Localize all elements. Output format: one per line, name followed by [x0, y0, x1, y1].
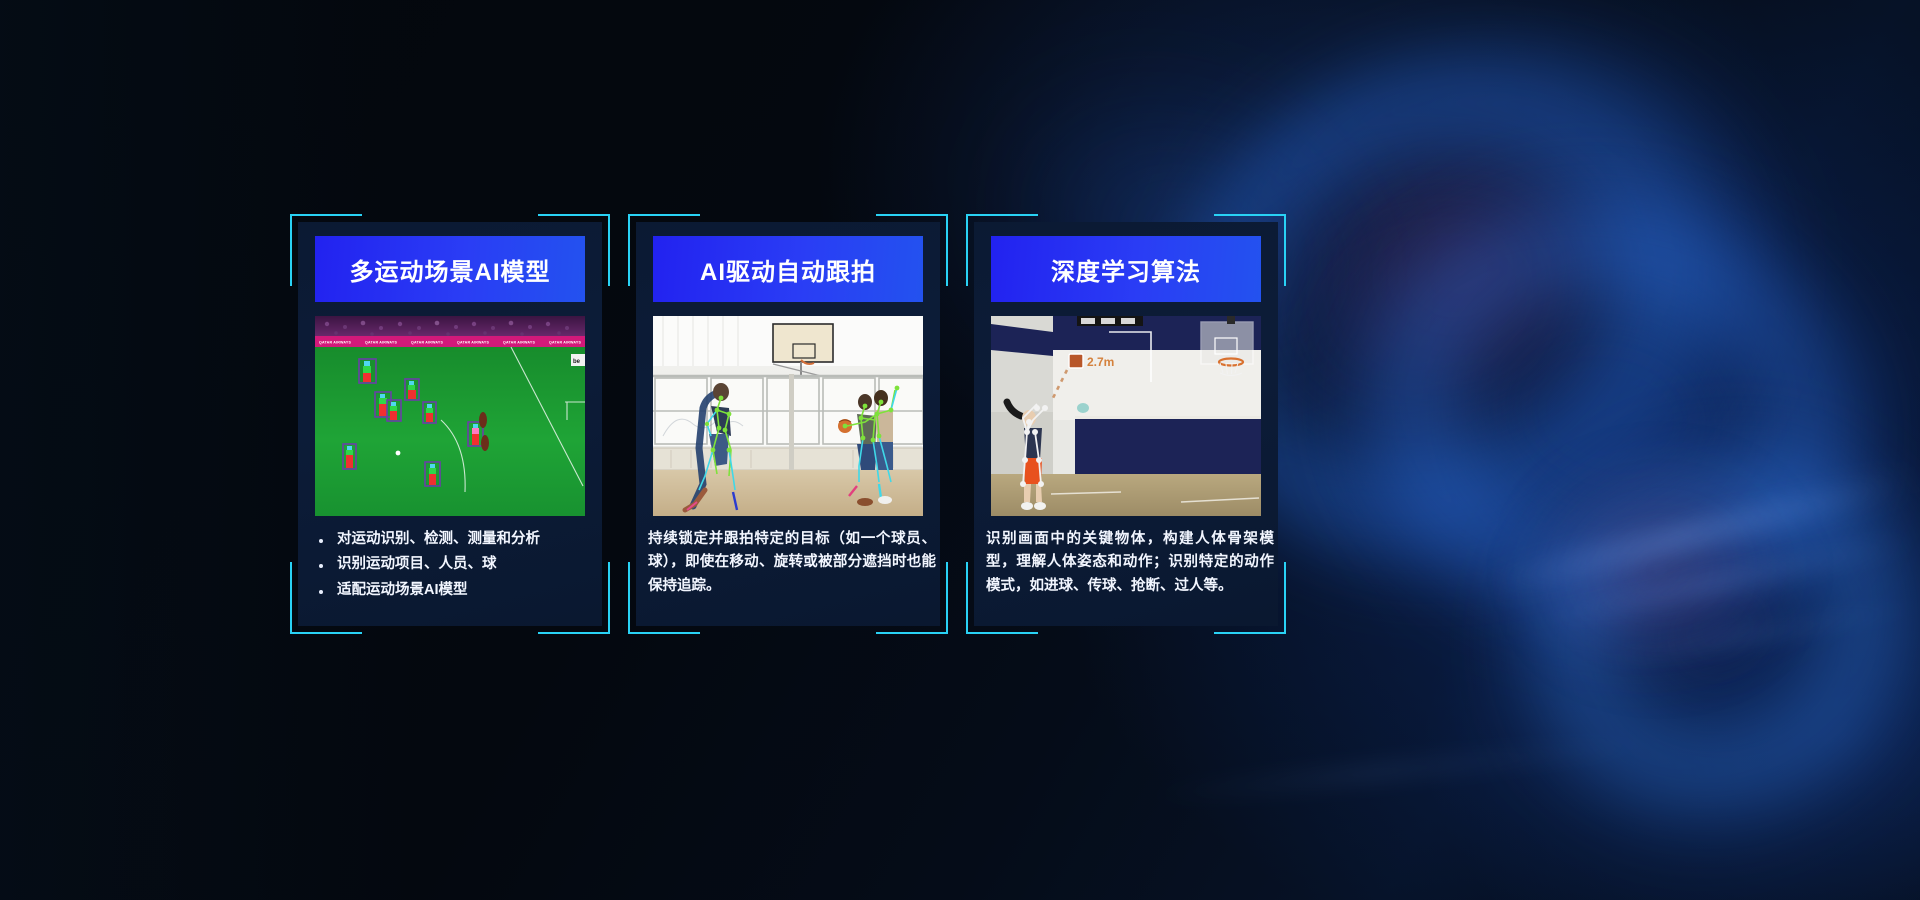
background-light-streak: [1542, 533, 1917, 628]
card-media-basketball-pose: [653, 316, 923, 516]
background-light-streak: [1601, 600, 1918, 667]
card-body: 识别画面中的关键物体，构建人体骨架模型，理解人体姿态和动作；识别特定的动作模式，…: [986, 528, 1274, 598]
background-light-streak: [1140, 733, 1659, 807]
background-swirl-mid: [1287, 127, 1920, 703]
svg-text:QATAR AIRWAYS: QATAR AIRWAYS: [319, 341, 351, 345]
page-background: 多运动场景AI模型: [0, 0, 1920, 900]
card-description: 识别画面中的关键物体，构建人体骨架模型，理解人体姿态和动作；识别特定的动作模式，…: [986, 528, 1274, 598]
card-title: 深度学习算法: [1051, 252, 1201, 287]
card-title: AI驱动自动跟拍: [700, 252, 876, 287]
card-description: 持续锁定并跟拍特定的目标（如一个球员、球），即使在移动、旋转或被部分遮挡时也能保…: [648, 528, 936, 598]
card-media-soccer-detection: QATAR AIRWAYS QATAR AIRWAYS QATAR AIRWAY…: [315, 316, 585, 516]
distance-label: 2.7m: [1087, 355, 1114, 369]
shot-tracking-illustration: 2.7m: [991, 316, 1261, 516]
feature-bullet-list: 对运动识别、检测、测量和分析 识别运动项目、人员、球 适配运动场景AI模型: [315, 528, 591, 602]
background-swirl-lower: [1429, 347, 1920, 900]
card-media-shot-tracking: 2.7m: [991, 316, 1261, 516]
card-panel: 深度学习算法: [974, 222, 1278, 626]
soccer-detection-illustration: QATAR AIRWAYS QATAR AIRWAYS QATAR AIRWAY…: [315, 316, 585, 516]
card-body: 持续锁定并跟拍特定的目标（如一个球员、球），即使在移动、旋转或被部分遮挡时也能保…: [648, 528, 936, 598]
feature-card-row: 多运动场景AI模型: [290, 214, 1290, 634]
background-magenta-tint-lower: [1530, 470, 1790, 670]
svg-text:QATAR AIRWAYS: QATAR AIRWAYS: [365, 341, 397, 345]
card-panel: 多运动场景AI模型: [298, 222, 602, 626]
feature-card-ai-auto-tracking[interactable]: AI驱动自动跟拍: [628, 214, 948, 634]
background-magenta-tint: [1240, 67, 1681, 472]
feature-card-deep-learning[interactable]: 深度学习算法: [966, 214, 1286, 634]
basketball-pose-illustration: [653, 316, 923, 516]
list-item: 识别运动项目、人员、球: [315, 553, 591, 576]
card-header: 多运动场景AI模型: [315, 236, 585, 302]
card-panel: AI驱动自动跟拍: [636, 222, 940, 626]
background-light-streak: [1483, 467, 1916, 599]
svg-text:QATAR AIRWAYS: QATAR AIRWAYS: [411, 341, 443, 345]
svg-text:QATAR AIRWAYS: QATAR AIRWAYS: [549, 341, 581, 345]
svg-text:QATAR AIRWAYS: QATAR AIRWAYS: [503, 341, 535, 345]
list-item: 适配运动场景AI模型: [315, 579, 591, 602]
svg-text:QATAR AIRWAYS: QATAR AIRWAYS: [457, 341, 489, 345]
card-body: 对运动识别、检测、测量和分析 识别运动项目、人员、球 适配运动场景AI模型: [315, 528, 591, 604]
svg-text:be: be: [573, 359, 581, 365]
feature-card-multi-sport-model[interactable]: 多运动场景AI模型: [290, 214, 610, 634]
card-header: AI驱动自动跟拍: [653, 236, 923, 302]
list-item: 对运动识别、检测、测量和分析: [315, 528, 591, 551]
card-title: 多运动场景AI模型: [350, 252, 551, 287]
card-header: 深度学习算法: [991, 236, 1261, 302]
